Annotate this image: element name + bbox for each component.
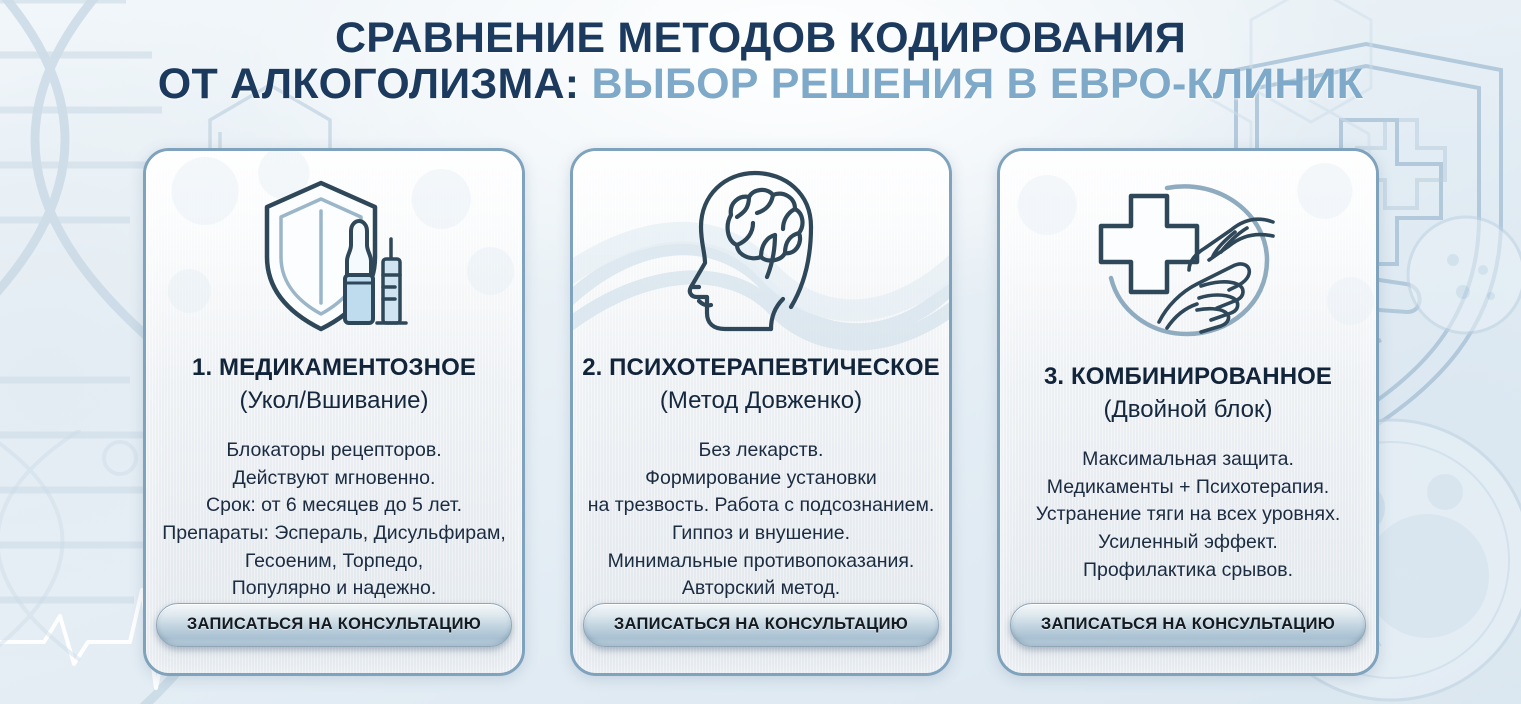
card-title: 2. ПСИХОТЕРАПЕВТИЧЕСКОЕ xyxy=(582,354,940,382)
card-subtitle: (Укол/Вшивание) xyxy=(240,387,429,415)
card-line: Гиппоз и внушение. xyxy=(581,520,941,548)
card-line: Препараты: Эспераль, Дисульфирам, xyxy=(154,520,514,548)
card-line: Минимальные противопоказания. xyxy=(581,548,941,576)
title-line-2: ОТ АЛКОГОЛИЗМА: ВЫБОР РЕШЕНИЯ В ЕВРО-КЛИ… xyxy=(0,62,1521,108)
card-cta-container: ЗАПИСАТЬСЯ НА КОНСУЛЬТАЦИЮ xyxy=(156,603,512,647)
card-icon-container xyxy=(146,151,522,354)
method-card-combined[interactable]: 3. КОМБИНИРОВАННОЕ (Двойной блок) Максим… xyxy=(997,148,1379,676)
card-title: 3. КОМБИНИРОВАННОЕ xyxy=(1044,363,1332,391)
card-title: 1. МЕДИКАМЕНТОЗНОЕ xyxy=(192,354,476,382)
card-description: Максимальная защита. Медикаменты + Психо… xyxy=(1000,446,1376,584)
method-cards-row: 1. МЕДИКАМЕНТОЗНОЕ (Укол/Вшивание) Блока… xyxy=(143,148,1380,676)
card-line: Популярно и надежно. xyxy=(154,575,514,603)
card-description: Без лекарств. Формирование установки на … xyxy=(573,437,949,603)
page-title: СРАВНЕНИЕ МЕТОДОВ КОДИРОВАНИЯ ОТ АЛКОГОЛ… xyxy=(0,16,1521,107)
card-subtitle: (Метод Довженко) xyxy=(660,387,862,415)
card-subtitle: (Двойной блок) xyxy=(1104,396,1273,424)
book-consultation-button[interactable]: ЗАПИСАТЬСЯ НА КОНСУЛЬТАЦИЮ xyxy=(1010,603,1366,647)
cell-circle-icon xyxy=(1391,200,1521,350)
card-line: Срок: от 6 месяцев до 5 лет. xyxy=(154,492,514,520)
cross-helping-hands-icon xyxy=(1097,174,1279,340)
card-description: Блокаторы рецепторов. Действуют мгновенн… xyxy=(146,437,522,603)
book-consultation-button[interactable]: ЗАПИСАТЬСЯ НА КОНСУЛЬТАЦИЮ xyxy=(583,603,939,647)
card-line: Устранение тяги на всех уровнях. xyxy=(1008,501,1368,529)
head-brain-icon xyxy=(679,165,843,339)
card-line: Усиленный эффект. xyxy=(1008,529,1368,557)
card-line: Медикаменты + Психотерапия. xyxy=(1008,474,1368,502)
card-line: Действуют мгновенно. xyxy=(154,465,514,493)
card-line: Формирование установки xyxy=(581,465,941,493)
card-line: Максимальная защита. xyxy=(1008,446,1368,474)
book-consultation-button[interactable]: ЗАПИСАТЬСЯ НА КОНСУЛЬТАЦИЮ xyxy=(156,603,512,647)
card-icon-container xyxy=(1000,151,1376,363)
title-line-2-accent: ВЫБОР РЕШЕНИЯ В ЕВРО-КЛИНИК xyxy=(591,60,1363,108)
card-cta-container: ЗАПИСАТЬСЯ НА КОНСУЛЬТАЦИЮ xyxy=(1010,603,1366,647)
card-cta-container: ЗАПИСАТЬСЯ НА КОНСУЛЬТАЦИЮ xyxy=(583,603,939,647)
card-line: Авторский метод. xyxy=(581,575,941,603)
method-card-medication[interactable]: 1. МЕДИКАМЕНТОЗНОЕ (Укол/Вшивание) Блока… xyxy=(143,148,525,676)
card-line: Профилактика срывов. xyxy=(1008,557,1368,585)
shield-ampoule-syringe-icon xyxy=(245,163,423,341)
title-line-1: СРАВНЕНИЕ МЕТОДОВ КОДИРОВАНИЯ xyxy=(0,16,1521,62)
card-icon-container xyxy=(573,151,949,354)
card-line: Без лекарств. xyxy=(581,437,941,465)
card-line: на трезвость. Работа с подсознанием. xyxy=(581,492,941,520)
card-line: Гесоеним, Торпедо, xyxy=(154,548,514,576)
card-line: Блокаторы рецепторов. xyxy=(154,437,514,465)
title-line-2-dark: ОТ АЛКОГОЛИЗМА: xyxy=(158,60,580,108)
method-card-psychotherapy[interactable]: 2. ПСИХОТЕРАПЕВТИЧЕСКОЕ (Метод Довженко)… xyxy=(570,148,952,676)
